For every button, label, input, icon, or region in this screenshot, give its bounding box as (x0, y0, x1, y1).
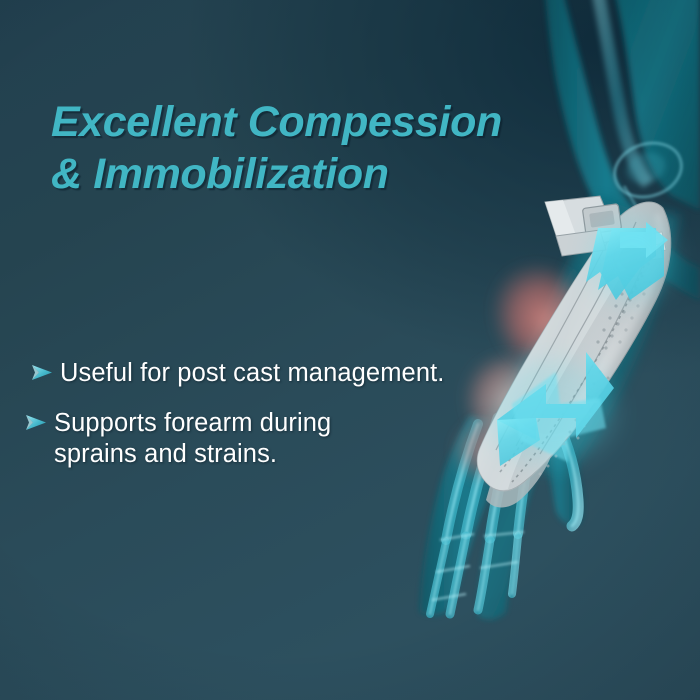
list-item: Useful for post cast management. (24, 358, 494, 390)
headline-line-2: & Immobilization (51, 148, 571, 200)
page-title: Excellent Compession & Immobilization (51, 96, 571, 200)
arrow-bullet-icon (30, 360, 56, 390)
promo-poster: Excellent Compession & Immobilization (0, 0, 700, 700)
list-item: Supports forearm during sprains and stra… (24, 408, 494, 470)
feature-list: Useful for post cast management. Sup (24, 358, 494, 485)
arrow-bullet-icon (24, 410, 50, 440)
list-item-label: Supports forearm during sprains and stra… (54, 408, 331, 470)
headline-line-1: Excellent Compession (51, 96, 571, 148)
list-item-label: Useful for post cast management. (60, 358, 444, 389)
